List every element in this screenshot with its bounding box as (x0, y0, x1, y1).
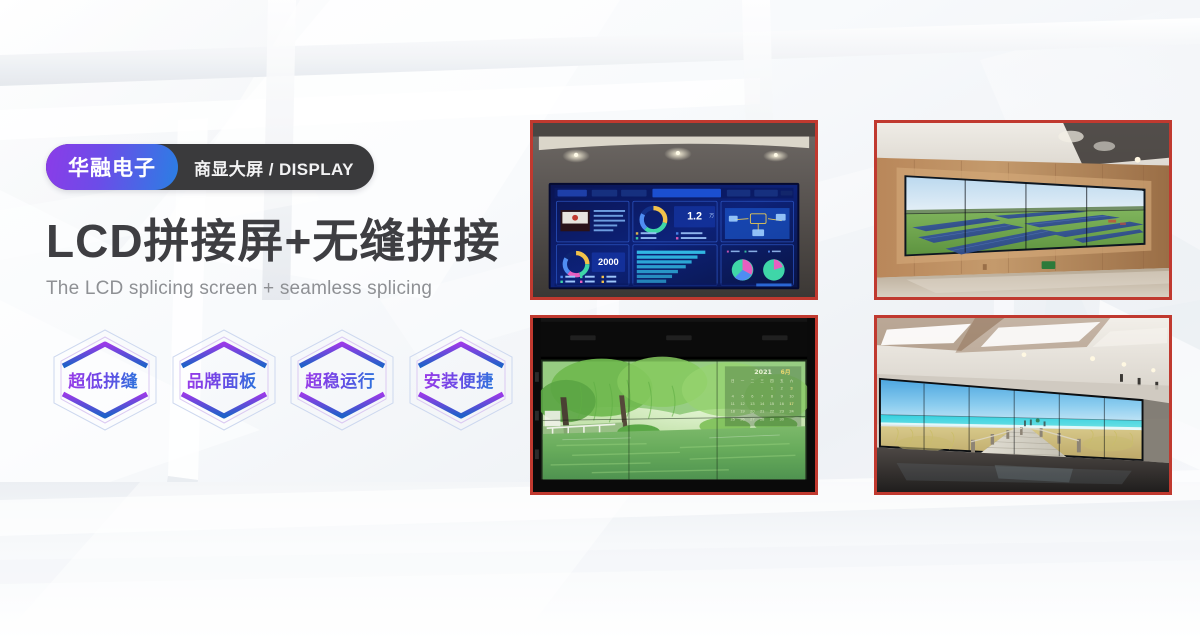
svg-text:二: 二 (751, 379, 755, 383)
photo-solar-farm-video-wall[interactable] (874, 120, 1172, 300)
svg-text:1.2: 1.2 (687, 211, 702, 223)
svg-text:23: 23 (780, 409, 784, 414)
page-subtitle: The LCD splicing screen + seamless splic… (46, 278, 516, 300)
promo-banner: 华融电子 商显大屏 / DISPLAY LCD拼接屏+无缝拼接 The LCD … (0, 0, 1200, 640)
brand-badge: 华融电子 商显大屏 / DISPLAY (46, 144, 374, 190)
feature-list: 超低拼缝 品牌面板 (46, 324, 516, 436)
page-title: LCD拼接屏+无缝拼接 (46, 216, 516, 268)
svg-text:22: 22 (770, 409, 774, 414)
svg-text:9: 9 (781, 393, 783, 398)
feature-label: 超稳运行 (305, 367, 375, 392)
svg-text:日: 日 (731, 379, 735, 383)
svg-text:8: 8 (771, 393, 773, 398)
feature-item-3[interactable]: 超稳运行 (283, 324, 398, 436)
svg-text:六: 六 (790, 378, 794, 383)
svg-text:10: 10 (789, 393, 793, 398)
photo-beach-boardwalk-video-wall[interactable] (874, 315, 1172, 495)
photo-dashboard-video-wall[interactable]: 1.2 万 (530, 120, 818, 300)
svg-text:11: 11 (731, 401, 735, 406)
svg-text:四: 四 (770, 379, 774, 383)
svg-text:5: 5 (741, 393, 743, 398)
svg-text:16: 16 (780, 401, 784, 406)
feature-label: 安装便捷 (424, 367, 494, 392)
svg-text:20: 20 (750, 409, 754, 414)
feature-item-1[interactable]: 超低拼缝 (46, 324, 161, 436)
svg-text:2: 2 (781, 386, 783, 391)
product-photo-grid: 1.2 万 (530, 120, 1172, 490)
brand-category: 商显大屏 / DISPLAY (178, 144, 374, 190)
svg-text:三: 三 (760, 379, 764, 383)
photo-lake-scenery-video-wall[interactable]: 2021 6月 日一二 三四五 六 123 456 789 10 111213 … (530, 315, 818, 495)
svg-text:3: 3 (790, 386, 792, 391)
svg-text:17: 17 (789, 401, 793, 406)
svg-text:19: 19 (740, 409, 744, 414)
svg-text:一: 一 (741, 379, 745, 383)
banner-content: 华融电子 商显大屏 / DISPLAY LCD拼接屏+无缝拼接 The LCD … (46, 144, 516, 436)
svg-text:1: 1 (771, 386, 773, 391)
svg-text:15: 15 (770, 401, 774, 406)
feature-label: 品牌面板 (187, 367, 257, 392)
svg-text:21: 21 (760, 409, 764, 414)
svg-text:6: 6 (751, 393, 753, 398)
svg-text:7: 7 (761, 393, 763, 398)
svg-text:万: 万 (709, 213, 714, 219)
svg-text:2000: 2000 (598, 257, 619, 267)
svg-text:18: 18 (731, 409, 735, 414)
svg-text:12: 12 (740, 401, 744, 406)
svg-text:13: 13 (750, 401, 754, 406)
svg-text:2021: 2021 (754, 369, 772, 376)
brand-name: 华融电子 (46, 144, 178, 190)
svg-text:6月: 6月 (781, 368, 791, 376)
feature-item-2[interactable]: 品牌面板 (165, 324, 280, 436)
feature-label: 超低拼缝 (68, 367, 138, 392)
svg-text:五: 五 (780, 379, 784, 383)
feature-item-4[interactable]: 安装便捷 (402, 324, 517, 436)
